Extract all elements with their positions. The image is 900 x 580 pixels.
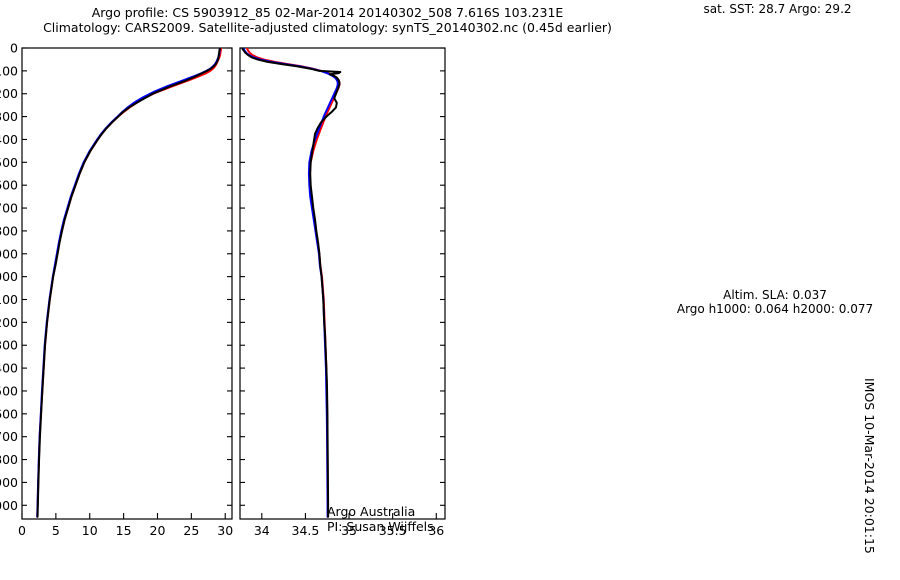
argo-profile-figure: Argo profile: CS 5903912_85 02-Mar-2014 … bbox=[0, 0, 900, 580]
map-frames bbox=[0, 0, 900, 580]
imos-timestamp: IMOS 10-Mar-2014 20:01:15 bbox=[859, 378, 877, 548]
credit-line1: Argo Australia bbox=[327, 504, 434, 519]
credit-block: Argo Australia PI: Susan Wijffels bbox=[327, 504, 434, 534]
credit-line2: PI: Susan Wijffels bbox=[327, 519, 434, 534]
